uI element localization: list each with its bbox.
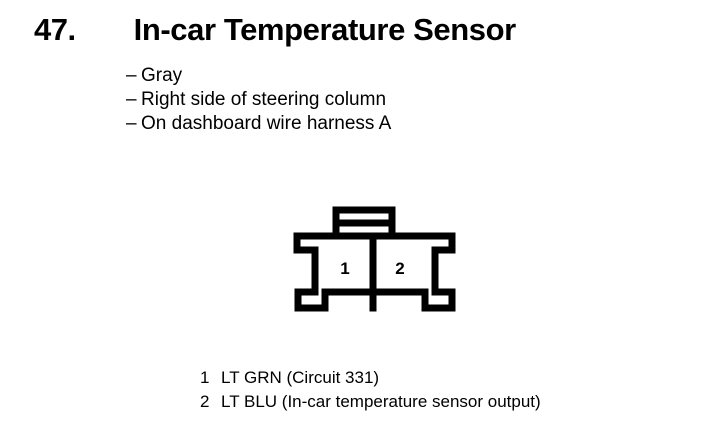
description-list: – Gray – Right side of steering column –… xyxy=(126,64,646,136)
item-number: 47. xyxy=(34,10,76,50)
legend-pin-number: 1 xyxy=(200,366,216,390)
dash-icon: – xyxy=(126,64,141,88)
legend-pin-number: 2 xyxy=(200,390,216,414)
pin-number-1: 1 xyxy=(340,259,349,278)
description-item: – Right side of steering column xyxy=(126,88,646,112)
dash-icon: – xyxy=(126,112,141,136)
legend-row: 2 LT BLU (In-car temperature sensor outp… xyxy=(200,390,670,414)
diagram-page: 47. In-car Temperature Sensor – Gray – R… xyxy=(0,0,704,438)
pin-number-2: 2 xyxy=(395,259,404,278)
description-text: Right side of steering column xyxy=(141,88,386,112)
legend-pin-description: LT GRN (Circuit 331) xyxy=(221,366,379,390)
page-title: In-car Temperature Sensor xyxy=(134,10,516,50)
description-text: Gray xyxy=(141,64,182,88)
description-text: On dashboard wire harness A xyxy=(141,112,391,136)
dash-icon: – xyxy=(126,88,141,112)
page-header: 47. In-car Temperature Sensor xyxy=(34,10,674,52)
legend-row: 1 LT GRN (Circuit 331) xyxy=(200,366,670,390)
legend-pin-description: LT BLU (In-car temperature sensor output… xyxy=(221,390,541,414)
description-item: – Gray xyxy=(126,64,646,88)
connector-outline xyxy=(297,210,452,308)
pin-legend: 1 LT GRN (Circuit 331) 2 LT BLU (In-car … xyxy=(200,366,670,414)
description-item: – On dashboard wire harness A xyxy=(126,112,646,136)
connector-diagram: 1 2 xyxy=(285,198,465,318)
